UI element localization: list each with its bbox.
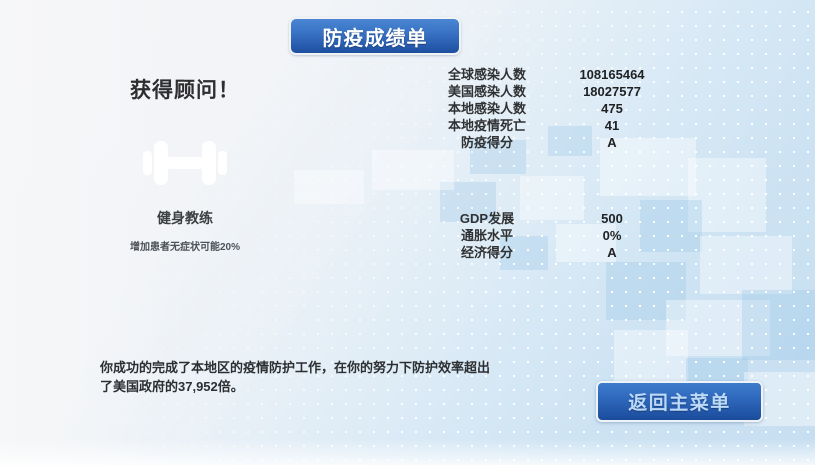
summary-text: 你成功的完成了本地区的疫情防护工作，在你的努力下防护效率超出了美国政府的37,9…	[100, 358, 490, 396]
stat-value: A	[542, 135, 682, 150]
economy-stats-table: GDP发展 500 通胀水平 0% 经济得分 A	[432, 208, 682, 259]
table-row: 防疫得分 A	[432, 132, 682, 149]
table-row: 美国感染人数 18027577	[432, 81, 682, 98]
stat-value: 475	[542, 101, 682, 116]
table-row: GDP发展 500	[432, 208, 682, 225]
stat-value: A	[542, 245, 682, 260]
scorecard-screen: 防疫成绩单 获得顾问！ 健身教练 增加患者无症状可能20% 全球感染人数 108…	[0, 0, 815, 465]
advisor-icon-container	[45, 132, 325, 194]
return-to-main-menu-button[interactable]: 返回主菜单	[596, 381, 763, 422]
advisor-name: 健身教练	[45, 208, 325, 228]
table-row: 本地感染人数 475	[432, 98, 682, 115]
stat-value: 0%	[542, 228, 682, 243]
advisor-heading: 获得顾问！	[45, 74, 325, 104]
background-bottom-fade	[0, 439, 815, 465]
stat-label: 防疫得分	[432, 132, 542, 151]
page-title-banner: 防疫成绩单	[289, 17, 461, 55]
advisor-panel: 获得顾问！ 健身教练 增加患者无症状可能20%	[45, 74, 325, 253]
stat-value: 41	[542, 118, 682, 133]
table-row: 全球感染人数 108165464	[432, 64, 682, 81]
stat-value: 500	[542, 211, 682, 226]
dumbbell-icon	[143, 138, 227, 188]
stat-value: 108165464	[542, 67, 682, 82]
epidemic-stats-table: 全球感染人数 108165464 美国感染人数 18027577 本地感染人数 …	[432, 64, 682, 149]
page-title: 防疫成绩单	[323, 22, 428, 51]
advisor-description: 增加患者无症状可能20%	[45, 238, 325, 253]
table-row: 经济得分 A	[432, 242, 682, 259]
stat-label: 经济得分	[432, 242, 542, 261]
table-row: 本地疫情死亡 41	[432, 115, 682, 132]
return-to-main-menu-label: 返回主菜单	[628, 388, 731, 415]
stat-value: 18027577	[542, 84, 682, 99]
table-row: 通胀水平 0%	[432, 225, 682, 242]
